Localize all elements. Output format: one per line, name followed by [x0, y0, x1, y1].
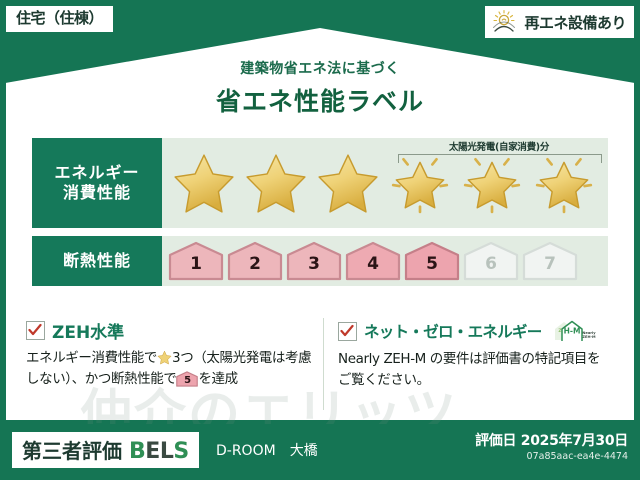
page-title: 省エネ性能ラベル — [0, 82, 640, 118]
row-label-energy-line2: 消費性能 — [63, 183, 131, 203]
grade-house-4-value: 4 — [345, 241, 401, 281]
info-body-zeh: エネルギー消費性能で3つ（太陽光発電は考慮しない）、かつ断熱性能で5を達成 — [26, 348, 313, 390]
info-body-netzero: Nearly ZEH-M の要件は評価書の特記項目をご覧ください。 — [338, 349, 610, 391]
zeh-m-logo-icon: H-M Z Nearly ZEH-M — [551, 318, 597, 344]
grade-house-2-value: 2 — [227, 241, 283, 281]
inline-star-icon — [157, 350, 172, 365]
title-block: 建築物省エネ法に基づく 省エネ性能ラベル — [0, 58, 640, 118]
bels-letter-l: L — [160, 439, 174, 464]
row-label-insulation: 断熱性能 — [32, 236, 162, 286]
grade-house-1-value: 1 — [168, 241, 224, 281]
inline-grade-value: 5 — [176, 371, 198, 387]
grade-house-7-value: 7 — [522, 241, 578, 281]
row-body-energy: 太陽光発電(自家消費)分 — [162, 138, 608, 228]
grade-house-1: 1 — [168, 241, 224, 281]
check-icon — [338, 322, 357, 341]
evaluation-date: 評価日 2025年7月30日 — [475, 430, 628, 450]
info-head-netzero: ネット・ゼロ・エネルギー H-M Z Nearly ZEH-M — [338, 318, 610, 344]
grade-house-5-value: 5 — [404, 241, 460, 281]
grade-house-6: 6 — [463, 241, 519, 281]
grade-scale-group: 1 2 3 4 5 — [162, 236, 608, 286]
sun-renewable-icon — [491, 9, 519, 35]
info-title-netzero: ネット・ゼロ・エネルギー — [364, 320, 542, 342]
star-icon — [168, 147, 240, 219]
row-insulation-performance: 断熱性能 1 2 3 — [32, 236, 608, 286]
row-energy-performance: エネルギー 消費性能 — [32, 138, 608, 228]
grade-house-2: 2 — [227, 241, 283, 281]
bels-letter-e: E — [145, 439, 160, 464]
renewable-equipment-badge: 再エネ設備あり — [485, 6, 634, 38]
bels-letter-b: B — [129, 439, 145, 464]
info-head-zeh: ZEH水準 — [26, 318, 313, 343]
star-icon — [240, 147, 312, 219]
star-rating-group — [162, 138, 608, 228]
bels-jp-label: 第三者評価 — [22, 435, 122, 464]
evaluation-info: 評価日 2025年7月30日 07a85aac-ea4e-4474 — [475, 430, 628, 462]
building-type-tag: 住宅（住棟） — [6, 6, 113, 32]
star-icon-solar — [528, 147, 600, 219]
grade-house-3: 3 — [286, 241, 342, 281]
evaluation-date-label: 評価日 — [475, 433, 516, 449]
grade-house-6-value: 6 — [463, 241, 519, 281]
performance-rows: エネルギー 消費性能 — [32, 138, 608, 286]
row-label-energy: エネルギー 消費性能 — [32, 138, 162, 228]
renewable-badge-label: 再エネ設備あり — [524, 12, 626, 33]
svg-text:H-M: H-M — [563, 327, 580, 336]
grade-house-5: 5 — [404, 241, 460, 281]
grade-house-7: 7 — [522, 241, 578, 281]
title-subtitle: 建築物省エネ法に基づく — [0, 58, 640, 78]
grade-house-4: 4 — [345, 241, 401, 281]
bels-logo: 第三者評価 BELS — [12, 432, 199, 468]
property-name: 大橋 — [290, 443, 318, 459]
row-label-energy-line1: エネルギー — [54, 163, 139, 183]
inline-grade-house-icon: 5 — [176, 371, 198, 387]
star-icon — [312, 147, 384, 219]
row-label-insulation-text: 断熱性能 — [63, 251, 131, 271]
row-body-insulation: 1 2 3 4 5 — [162, 236, 608, 286]
info-body-zeh-part3: を達成 — [198, 371, 237, 387]
svg-text:ZEH-M: ZEH-M — [582, 335, 596, 339]
bels-en-label: BELS — [129, 439, 189, 464]
property-brand: D-ROOM — [216, 443, 276, 459]
footer: 第三者評価 BELS D-ROOM大橋 評価日 2025年7月30日 07a85… — [0, 424, 640, 480]
evaluation-date-value: 2025年7月30日 — [521, 433, 628, 449]
evaluation-id: 07a85aac-ea4e-4474 — [475, 451, 628, 462]
bels-letter-s: S — [173, 439, 188, 464]
property-label: D-ROOM大橋 — [216, 440, 318, 460]
info-panel-zeh: ZEH水準 エネルギー消費性能で3つ（太陽光発電は考慮しない）、かつ断熱性能で5… — [26, 318, 323, 410]
energy-label-root: 仲介のエリッツ 住宅（住棟） 再エネ設備あり — [0, 0, 640, 480]
info-title-zeh: ZEH水準 — [52, 318, 124, 343]
info-panels: ZEH水準 エネルギー消費性能で3つ（太陽光発電は考慮しない）、かつ断熱性能で5… — [26, 318, 620, 410]
info-body-zeh-part1: エネルギー消費性能で — [26, 350, 157, 366]
star-icon-solar — [456, 147, 528, 219]
grade-house-3-value: 3 — [286, 241, 342, 281]
star-icon-solar — [384, 147, 456, 219]
info-panel-netzero: ネット・ゼロ・エネルギー H-M Z Nearly ZEH-M Nearly Z… — [323, 318, 620, 410]
check-icon — [26, 321, 45, 340]
